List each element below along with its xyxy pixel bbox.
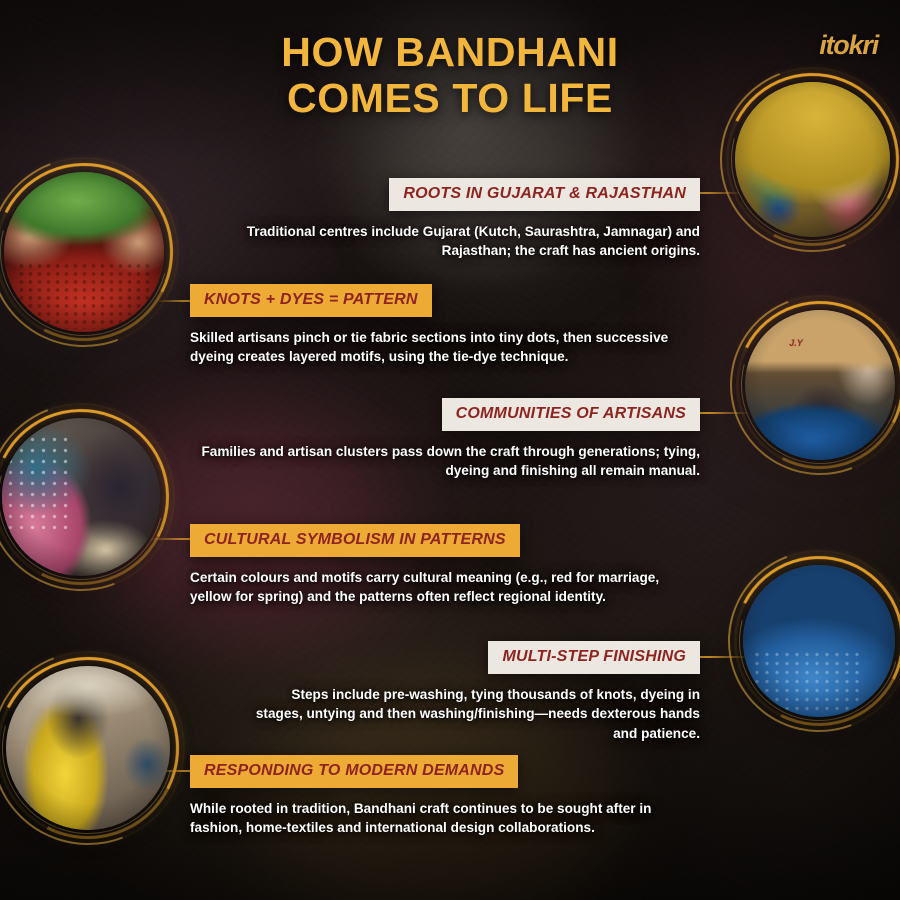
section-communities-of-artisans: COMMUNITIES OF ARTISANS Families and art… — [200, 398, 700, 481]
itokri-logo[interactable]: itokri — [819, 30, 878, 61]
section-badge-multi-step-finishing[interactable]: MULTI-STEP FINISHING — [488, 641, 700, 674]
section-badge-responding-to-modern-demands[interactable]: RESPONDING TO MODERN DEMANDS — [190, 755, 518, 788]
section-body-roots-in-gujarat-rajasthan: Traditional centres include Gujarat (Kut… — [200, 222, 700, 261]
photo-dyer-at-blue-tub: J.Y — [745, 310, 895, 460]
section-badge-knots-dyes-pattern[interactable]: KNOTS + DYES = PATTERN — [190, 284, 432, 317]
section-body-knots-dyes-pattern: Skilled artisans pinch or tie fabric sec… — [190, 328, 700, 367]
page-title-line-1: HOW BANDHANI — [281, 29, 618, 75]
photo-women-tying-knots — [2, 418, 160, 576]
photo-image — [743, 565, 895, 717]
photo-hands-tying-red-fabric — [4, 172, 164, 332]
photo-image: J.Y — [745, 310, 895, 460]
photo-shade — [743, 565, 895, 717]
photo-shade — [4, 172, 164, 332]
page-title-line-2: COMES TO LIFE — [0, 76, 900, 122]
photo-shade — [745, 310, 895, 460]
photo-image — [6, 666, 170, 830]
photo-blue-dye-vat — [743, 565, 895, 717]
section-body-responding-to-modern-demands: While rooted in tradition, Bandhani craf… — [190, 799, 670, 838]
photo-image — [4, 172, 164, 332]
infographic-canvas: itokri HOW BANDHANI COMES TO LIFE — [0, 0, 900, 900]
section-roots-in-gujarat-rajasthan: ROOTS IN GUJARAT & RAJASTHAN Traditional… — [200, 178, 700, 261]
page-title: HOW BANDHANI COMES TO LIFE — [0, 30, 900, 122]
section-body-communities-of-artisans: Families and artisan clusters pass down … — [200, 442, 700, 481]
section-knots-dyes-pattern: KNOTS + DYES = PATTERN Skilled artisans … — [190, 284, 700, 367]
photo-shade — [2, 418, 160, 576]
photo-shade — [6, 666, 170, 830]
section-badge-communities-of-artisans[interactable]: COMMUNITIES OF ARTISANS — [442, 398, 700, 431]
section-body-cultural-symbolism-in-patterns: Certain colours and motifs carry cultura… — [190, 568, 700, 607]
section-responding-to-modern-demands: RESPONDING TO MODERN DEMANDS While roote… — [190, 755, 670, 838]
section-badge-cultural-symbolism-in-patterns[interactable]: CULTURAL SYMBOLISM IN PATTERNS — [190, 524, 520, 557]
photo-image — [2, 418, 160, 576]
section-badge-roots-in-gujarat-rajasthan[interactable]: ROOTS IN GUJARAT & RAJASTHAN — [389, 178, 700, 211]
photo-man-lifting-yellow-skein — [6, 666, 170, 830]
section-body-multi-step-finishing: Steps include pre-washing, tying thousan… — [250, 685, 700, 743]
section-cultural-symbolism-in-patterns: CULTURAL SYMBOLISM IN PATTERNS Certain c… — [190, 524, 700, 607]
section-multi-step-finishing: MULTI-STEP FINISHING Steps include pre-w… — [250, 641, 700, 743]
